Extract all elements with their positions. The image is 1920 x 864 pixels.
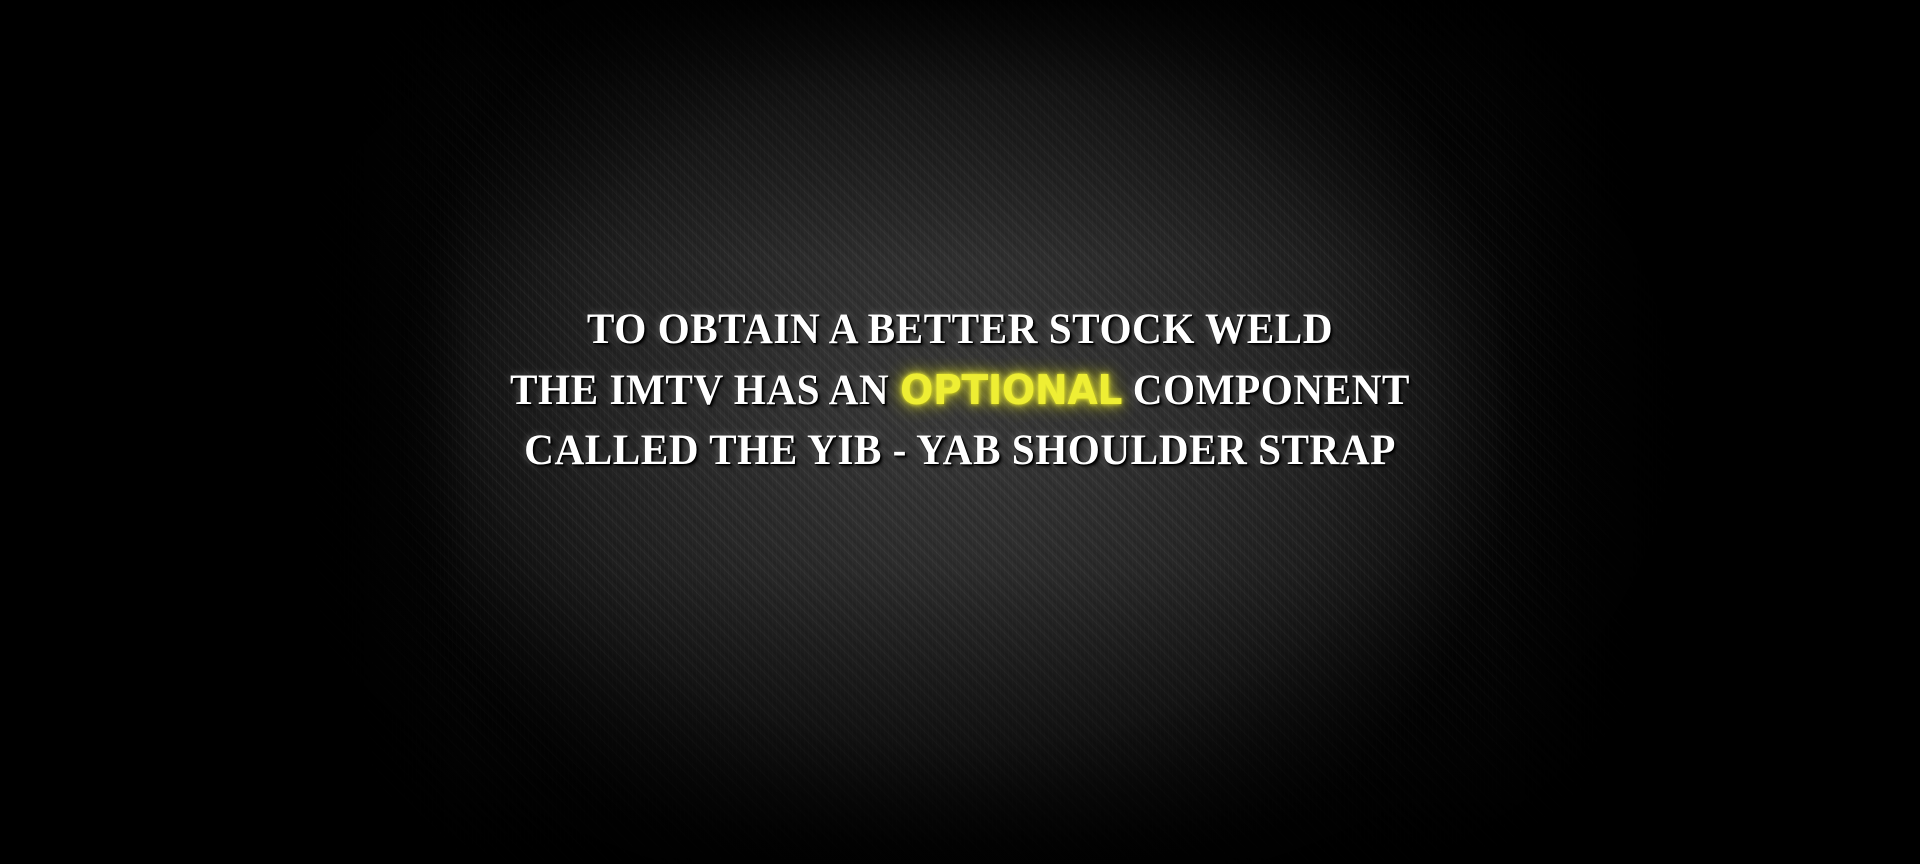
caption-line-2-text-before: THE IMTV HAS AN <box>510 367 900 414</box>
caption-line-2: THE IMTV HAS AN OPTIONAL COMPONENT <box>38 360 1881 421</box>
caption-line-2-text-after: COMPONENT <box>1122 367 1410 414</box>
caption-line-1: TO OBTAIN A BETTER STOCK WELD <box>38 300 1881 360</box>
caption-line-3-text: CALLED THE YIB - YAB SHOULDER STRAP <box>524 427 1396 474</box>
caption-line-3: CALLED THE YIB - YAB SHOULDER STRAP <box>38 421 1881 481</box>
caption-highlight-optional: OPTIONAL <box>900 366 1122 414</box>
caption-line-1-text: TO OBTAIN A BETTER STOCK WELD <box>587 306 1333 353</box>
caption-block: TO OBTAIN A BETTER STOCK WELD THE IMTV H… <box>0 300 1920 481</box>
video-frame: TO OBTAIN A BETTER STOCK WELD THE IMTV H… <box>0 0 1920 864</box>
